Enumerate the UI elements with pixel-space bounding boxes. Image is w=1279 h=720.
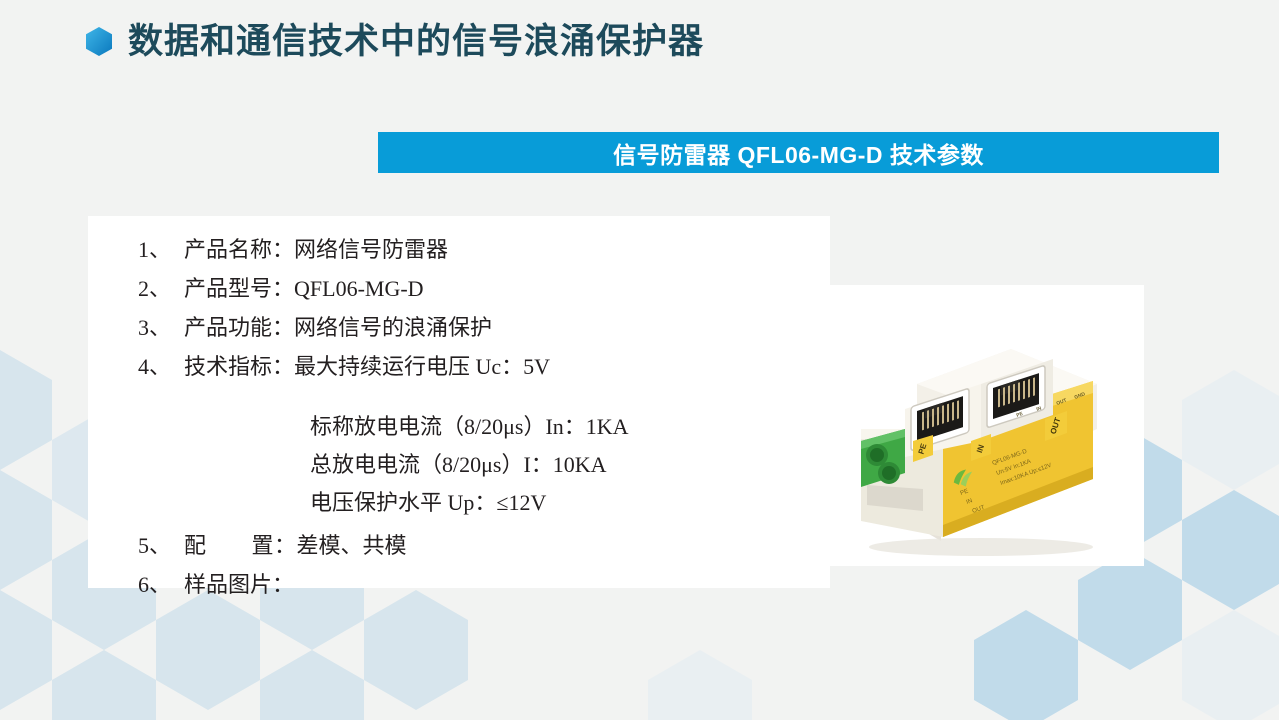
section-banner: 信号防雷器 QFL06-MG-D 技术参数 bbox=[378, 132, 1219, 173]
page-title-row: 数据和通信技术中的信号浪涌保护器 bbox=[86, 24, 704, 59]
page-title: 数据和通信技术中的信号浪涌保护器 bbox=[128, 24, 704, 59]
spec-item-value: 差模、共模 bbox=[297, 526, 407, 565]
spec-list: 1、 产品名称： 网络信号防雷器 2、 产品型号： QFL06-MG-D 3、 … bbox=[138, 230, 629, 604]
product-photo-image: IN OUT PE QFL06-MG-D bbox=[815, 285, 1144, 566]
spec-item-label: 产品名称： bbox=[184, 230, 294, 269]
spec-panel: 1、 产品名称： 网络信号防雷器 2、 产品型号： QFL06-MG-D 3、 … bbox=[88, 216, 830, 588]
spec-item-label: 样品图片： bbox=[184, 565, 294, 604]
spec-sub-list: 标称放电电流（8/20μs）In：1KA 总放电电流（8/20μs）I：10KA… bbox=[138, 408, 629, 522]
spec-item: 5、 配 置： 差模、共模 bbox=[138, 526, 629, 565]
spec-item-number: 6、 bbox=[138, 565, 184, 604]
slide-root: 数据和通信技术中的信号浪涌保护器 信号防雷器 QFL06-MG-D 技术参数 1… bbox=[0, 0, 1279, 720]
spec-item-number: 5、 bbox=[138, 526, 184, 565]
spec-item-number: 1、 bbox=[138, 230, 184, 269]
product-photo-panel: IN OUT PE QFL06-MG-D bbox=[815, 285, 1144, 566]
spec-item: 1、 产品名称： 网络信号防雷器 bbox=[138, 230, 629, 269]
spec-item: 3、 产品功能： 网络信号的浪涌保护 bbox=[138, 308, 629, 347]
section-banner-text: 信号防雷器 QFL06-MG-D 技术参数 bbox=[613, 136, 984, 170]
spec-sub-item: 总放电电流（8/20μs）I：10KA bbox=[310, 446, 629, 484]
spec-item-number: 2、 bbox=[138, 269, 184, 308]
spec-item-value: 网络信号防雷器 bbox=[294, 230, 448, 269]
hexagon-bullet-icon bbox=[86, 27, 112, 56]
spec-item-number: 4、 bbox=[138, 347, 184, 386]
spec-item-label: 技术指标： bbox=[184, 347, 294, 386]
spec-item: 2、 产品型号： QFL06-MG-D bbox=[138, 269, 629, 308]
spec-item-value: 网络信号的浪涌保护 bbox=[294, 308, 492, 347]
spec-sub-item: 标称放电电流（8/20μs）In：1KA bbox=[310, 408, 629, 446]
spec-item-number: 3、 bbox=[138, 308, 184, 347]
spec-item-value: 最大持续运行电压 Uc：5V bbox=[294, 347, 550, 386]
spec-item-label: 配 置： bbox=[184, 526, 297, 565]
spec-item-label: 产品功能： bbox=[184, 308, 294, 347]
spec-item: 4、 技术指标： 最大持续运行电压 Uc：5V bbox=[138, 347, 629, 386]
spec-sub-item: 电压保护水平 Up：≤12V bbox=[310, 484, 629, 522]
spec-item: 6、 样品图片： bbox=[138, 565, 629, 604]
spec-item-value: QFL06-MG-D bbox=[294, 269, 424, 308]
spec-item-label: 产品型号： bbox=[184, 269, 294, 308]
